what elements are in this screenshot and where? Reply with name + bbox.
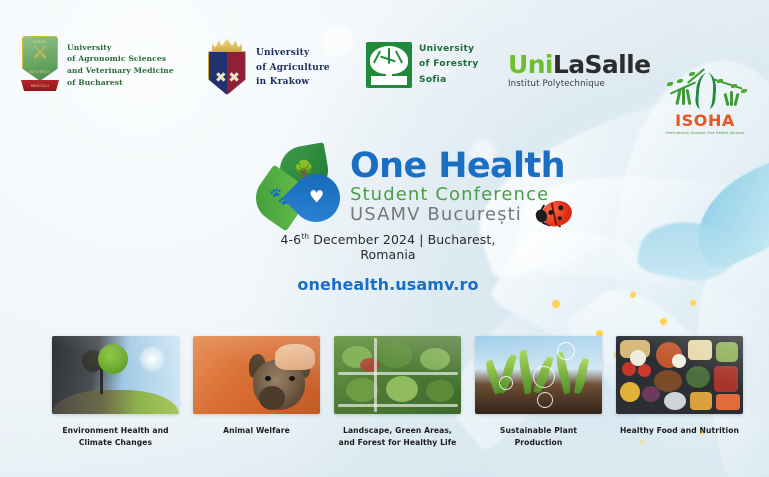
forestry-tree-icon [366, 42, 412, 88]
partner-name-krakow: University of Agriculture in Krakow [256, 46, 330, 90]
climate-change-tree-photo [52, 336, 179, 414]
lasalle-wordmark: UniLaSalle [508, 52, 650, 77]
partner-name-line: of Bucharest [67, 77, 174, 89]
crest-mid-text: BUCURESTI [30, 70, 51, 74]
conference-subtitle: Student Conference [350, 186, 565, 204]
theme-caption: Healthy Food and Nutrition [616, 425, 743, 437]
date-ordinal-suffix: th [301, 232, 309, 241]
krakow-coat-of-arms-icon: ✖ ✖ [205, 38, 249, 98]
conference-website-link[interactable]: onehealth.usamv.ro [258, 275, 518, 294]
partner-logo-bar: USAMV ⚔ BUCURESTI MDCCCLII University of… [0, 28, 769, 108]
partner-logo-isoha[interactable]: ISOHA International Student One Health A… [655, 67, 755, 135]
partner-name-line: Sofia [419, 73, 479, 88]
theme-card-animal-welfare[interactable]: Animal Welfare [193, 336, 320, 450]
lasalle-subtitle: Institut Polytechnique [508, 79, 650, 89]
theme-caption: Sustainable Plant Production [475, 425, 602, 450]
theme-card-sustainable-plant-production[interactable]: Sustainable Plant Production [475, 336, 602, 450]
stamen [630, 292, 636, 298]
partner-logo-usamv-bucharest[interactable]: USAMV ⚔ BUCURESTI MDCCCLII University of… [20, 36, 174, 94]
conference-wordmark: One Health Student Conference USAMV Bucu… [350, 148, 565, 223]
partner-name-line: and Veterinary Medicine [67, 65, 174, 77]
crest-emblem-icon: ⚔ [31, 44, 48, 63]
partner-logo-forestry-sofia[interactable]: University of Forestry Sofia [366, 42, 479, 88]
partner-name-line: University [256, 46, 330, 61]
lasalle-word-uni: Uni [508, 50, 553, 79]
partner-name-line: of Agriculture [256, 61, 330, 76]
partner-name-line: of Agronomic Sciences [67, 53, 174, 65]
theme-caption: Animal Welfare [193, 425, 320, 437]
heart-pulse-icon: ♥ [308, 190, 323, 207]
assorted-healthy-food-photo [616, 336, 743, 414]
date-prefix: 4-6 [281, 232, 302, 247]
theme-card-environment-health[interactable]: Environment Health and Climate Changes [52, 336, 179, 450]
theme-card-landscape-green-areas[interactable]: Landscape, Green Areas, and Forest for H… [334, 336, 461, 450]
conference-title: One Health [350, 148, 565, 184]
partner-name-usamv: University of Agronomic Sciences and Vet… [67, 42, 174, 88]
isoha-figure-icon [655, 67, 755, 113]
usamv-crest-icon: USAMV ⚔ BUCURESTI MDCCCLII [20, 36, 60, 94]
partner-name-line: University [419, 42, 479, 57]
conference-lockup: 🌳 🐾 ♥ One Health Student Conference USAM… [258, 148, 565, 224]
stamen [690, 300, 696, 306]
person-with-dog-photo [193, 336, 320, 414]
partner-logo-krakow[interactable]: ✖ ✖ University of Agriculture in Krakow [205, 38, 330, 98]
theme-card-healthy-food-nutrition[interactable]: Healthy Food and Nutrition [616, 336, 743, 450]
theme-caption: Environment Health and Climate Changes [52, 425, 179, 450]
partner-name-forestry: University of Forestry Sofia [419, 42, 479, 88]
partner-name-line: of Forestry [419, 57, 479, 72]
partner-name-line: in Krakow [256, 75, 330, 90]
one-health-logo-mark: 🌳 🐾 ♥ [258, 148, 338, 224]
theme-caption: Landscape, Green Areas, and Forest for H… [334, 425, 461, 450]
isoha-subtitle: International Student One Health Allianc… [655, 131, 755, 135]
stamen [552, 300, 560, 308]
conference-date-location: 4-6th December 2024 | Bucharest, Romania [258, 232, 518, 262]
isoha-name: ISOHA [655, 113, 755, 129]
stamen [660, 318, 667, 325]
date-rest: December 2024 | Bucharest, Romania [309, 232, 495, 262]
lasalle-word-salle: LaSalle [553, 50, 651, 79]
crest-ribbon: MDCCCLII [21, 80, 59, 91]
conference-meta: 4-6th December 2024 | Bucharest, Romania… [258, 232, 518, 294]
conference-organizer: USAMV București [350, 206, 565, 224]
theme-list: Environment Health and Climate Changes A… [52, 336, 732, 450]
partner-name-line: University [67, 42, 174, 54]
crest-ribbon-text: MDCCCLII [31, 84, 49, 88]
aerial-green-park-photo [334, 336, 461, 414]
crop-seedlings-photo [475, 336, 602, 414]
